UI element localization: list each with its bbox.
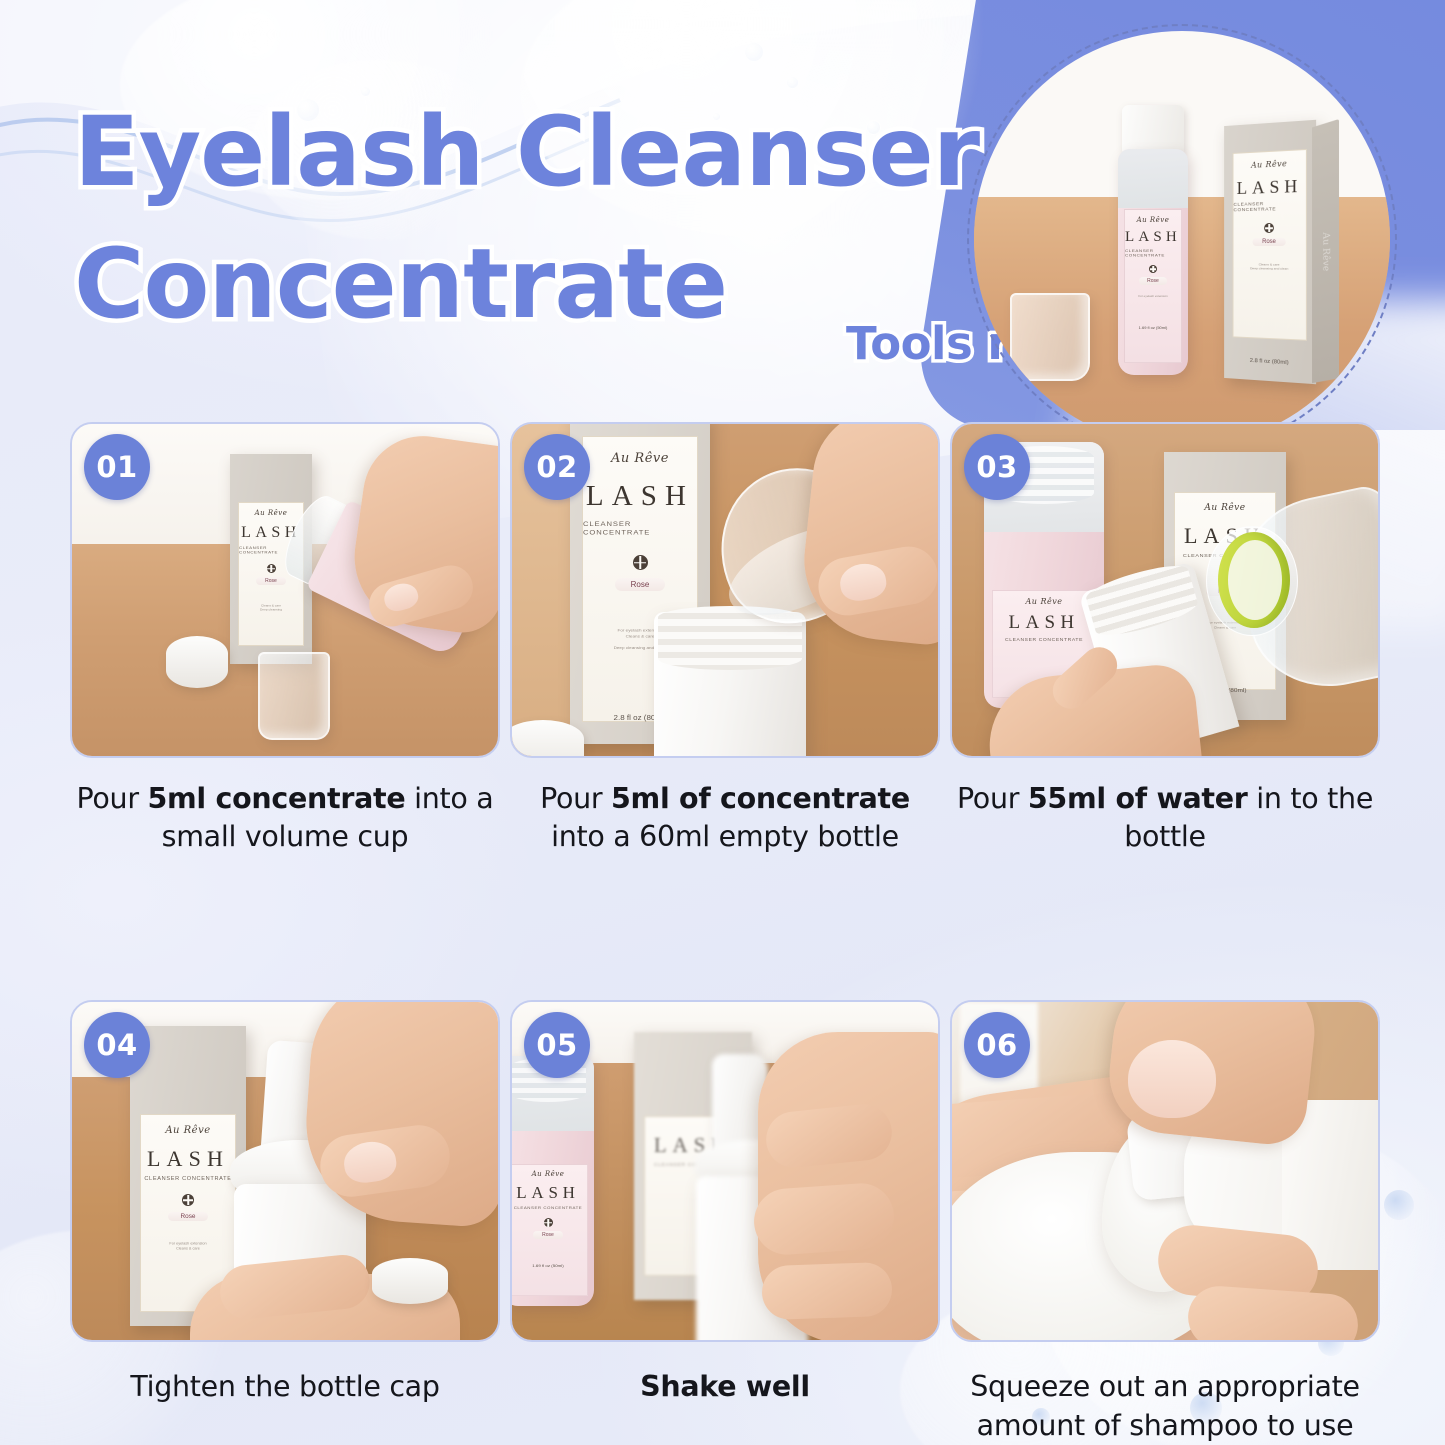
product-name: LASH [516, 1183, 579, 1203]
rose-mark-icon [1264, 223, 1274, 233]
step-caption-01: Pour 5ml concentrate into a small volume… [70, 758, 500, 856]
hero-circle-inset: Au Rêve LASH CLEANSER CONCENTRATE Rose F… [967, 24, 1397, 454]
step-panel-05: Au Rêve LASH CLEANSER CONCENTRATE Rose 1… [510, 1000, 940, 1444]
product-name: LASH [1237, 176, 1303, 199]
product-box: Au Rêve Au Rêve LASH CLEANSER CONCENTRAT… [1224, 120, 1316, 384]
row-spacer [70, 856, 500, 1000]
caption-suffix: into a 60ml empty bottle [551, 820, 899, 853]
rose-mark-icon [182, 1194, 194, 1206]
brand-script: Au Rêve [165, 1125, 210, 1136]
brand-script: Au Rêve [1204, 503, 1245, 513]
variant-badge: Rose [1139, 277, 1167, 285]
bottle-mouth [1228, 540, 1282, 620]
bottle-cap [372, 1258, 448, 1304]
step-caption-06: Squeeze out an appropriate amount of sha… [950, 1342, 1380, 1444]
row-spacer [950, 856, 1380, 1000]
brand-script: Au Rêve [611, 451, 669, 466]
brand-script: Au Rêve [255, 509, 288, 517]
finger [761, 1262, 893, 1321]
title-line-2: Concentrate [74, 218, 974, 350]
label-fine-print: Cleans & careDeep cleansing [245, 604, 296, 612]
step-photo-03: Au Rêve LASH CLEANSER CONCENTRATE Rose F… [950, 422, 1380, 758]
step-panel-02: Au Rêve LASH CLEANSER CONCENTRATE Rose F… [510, 422, 940, 856]
step-panel-06: 06 Squeeze out an appropriate amount of … [950, 1000, 1380, 1444]
step-badge-06: 06 [964, 1012, 1030, 1078]
step-photo-04: Au Rêve LASH CLEANSER CONCENTRATE Rose F… [70, 1000, 500, 1342]
step-panel-01: Au Rêve LASH CLEANSER CONCENTRATE Rose C… [70, 422, 500, 856]
variant-badge: Rose [168, 1212, 209, 1221]
brand-script: Au Rêve [532, 1170, 565, 1178]
steps-grid: Au Rêve LASH CLEANSER CONCENTRATE Rose C… [70, 422, 1390, 1445]
product-name: LASH [1009, 612, 1080, 634]
bottle-cap [166, 636, 228, 688]
product-name: LASH [147, 1146, 229, 1172]
brand-script: Au Rêve [1026, 597, 1063, 606]
step-caption-04: Tighten the bottle cap [70, 1342, 500, 1406]
product-name: LASH [586, 480, 694, 513]
bottle-label: Au Rêve LASH CLEANSER CONCENTRATE Rose 1… [510, 1164, 588, 1296]
product-subtitle: CLEANSER CONCENTRATE [1233, 201, 1305, 214]
label-fine-print: Cleans & careDeep cleansing and clean [1241, 263, 1297, 272]
variant-badge: Rose [1253, 238, 1286, 246]
rose-mark-icon [1149, 265, 1157, 273]
product-subtitle: CLEANSER CONCENTRATE [1005, 637, 1083, 642]
variant-badge: Rose [615, 578, 666, 591]
variant-badge: Rose [533, 1231, 563, 1239]
thumb [752, 1182, 896, 1258]
step-panel-04: Au Rêve LASH CLEANSER CONCENTRATE Rose F… [70, 1000, 500, 1444]
step-panel-03: Au Rêve LASH CLEANSER CONCENTRATE Rose F… [950, 422, 1380, 856]
caption-prefix: Pour [957, 782, 1028, 815]
step-badge-04: 04 [84, 1012, 150, 1078]
title-line-1: Eyelash Cleanser [74, 86, 974, 218]
thumbnail [1128, 1040, 1216, 1118]
caption-bold: 55ml of water [1028, 782, 1248, 815]
row-spacer [510, 856, 940, 1000]
bottle-volume: 1.69 fl oz (50ml) [1139, 325, 1168, 330]
step-photo-02: Au Rêve LASH CLEANSER CONCENTRATE Rose F… [510, 422, 940, 758]
step-badge-01: 01 [84, 434, 150, 500]
label-fine-print: For eyelash extension [1131, 294, 1176, 298]
box-label: Au Rêve LASH CLEANSER CONCENTRATE Rose C… [1233, 149, 1307, 341]
bubble-icon [744, 42, 764, 62]
product-subtitle: CLEANSER CONCENTRATE [583, 520, 697, 536]
product-subtitle: CLEANSER CONCENTRATE [144, 1177, 231, 1182]
label-fine-print: For eyelash extensionCleans & care [151, 1242, 224, 1252]
step-badge-05: 05 [524, 1012, 590, 1078]
pink-concentrate-bottle: Au Rêve LASH CLEANSER CONCENTRATE Rose F… [1118, 149, 1188, 375]
rose-mark-icon [633, 555, 648, 570]
bottle-label: Au Rêve LASH CLEANSER CONCENTRATE Rose F… [1124, 209, 1182, 363]
white-bottle [654, 612, 806, 758]
bottle-neck [1118, 149, 1188, 208]
product-subtitle: CLEANSER CONCENTRATE [514, 1206, 583, 1211]
pink-concentrate-bottle: Au Rêve LASH CLEANSER CONCENTRATE Rose 1… [510, 1056, 594, 1306]
step-photo-01: Au Rêve LASH CLEANSER CONCENTRATE Rose C… [70, 422, 500, 758]
step-badge-03: 03 [964, 434, 1030, 500]
page-title: Eyelash Cleanser Concentrate [74, 86, 974, 351]
step-caption-05: Shake well [510, 1342, 940, 1406]
caption-bold: 5ml of concentrate [611, 782, 910, 815]
step-photo-05: Au Rêve LASH CLEANSER CONCENTRATE Rose 1… [510, 1000, 940, 1342]
caption-bold: 5ml concentrate [148, 782, 406, 815]
product-subtitle: CLEANSER CONCENTRATE [1125, 249, 1181, 258]
step-caption-03: Pour 55ml of water in to the bottle [950, 758, 1380, 856]
caption-prefix: Pour [540, 782, 611, 815]
brand-script: Au Rêve [1251, 159, 1287, 170]
product-name: LASH [1125, 229, 1181, 246]
step-badge-02: 02 [524, 434, 590, 500]
bottle-cap [1122, 105, 1184, 153]
measuring-cup [258, 652, 330, 740]
caption-prefix: Pour [77, 782, 148, 815]
bottle-cap [510, 720, 584, 758]
box-side-face: Au Rêve [1312, 119, 1339, 383]
measuring-cup [1010, 293, 1090, 381]
hero-photo: Au Rêve LASH CLEANSER CONCENTRATE Rose F… [974, 31, 1390, 447]
brand-script: Au Rêve [1137, 216, 1170, 224]
bottle-volume: 1.69 fl oz (50ml) [532, 1264, 563, 1269]
step-photo-06: 06 [950, 1000, 1380, 1342]
step-caption-02: Pour 5ml of concentrate into a 60ml empt… [510, 758, 940, 856]
infographic-root: Eyelash Cleanser Concentrate Tools ready… [0, 0, 1445, 1445]
rose-mark-icon [544, 1218, 553, 1227]
